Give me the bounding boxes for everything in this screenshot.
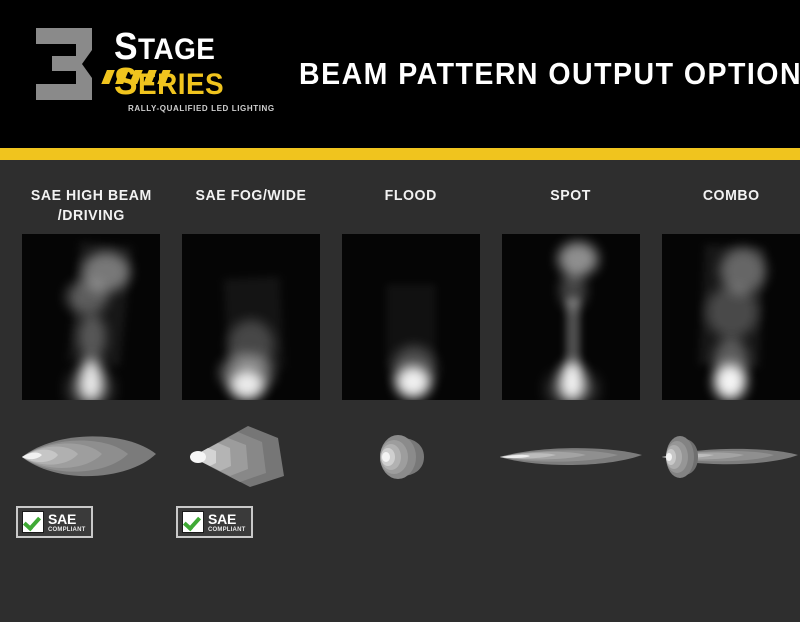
badge-slot-fog-wide: SAE COMPLIANT [176, 506, 326, 552]
sae-badge-subtitle: COMPLIANT [48, 527, 85, 533]
beam-diagram-spot [496, 424, 646, 490]
logo-stage-rest: TAGE [138, 33, 215, 66]
stage-series-logo: STAGE SERIES RALLY-QUALIFIED LED LIGHTIN… [26, 14, 276, 134]
beam-photo-fog-wide [182, 234, 320, 400]
beam-photo-combo [662, 234, 800, 400]
logo-series-rest: ERIES [138, 68, 224, 101]
beam-diagram-combo [656, 424, 800, 490]
yellow-divider [0, 148, 800, 160]
column-label-fog-wide: SAE FOG/WIDE [196, 160, 307, 234]
logo-tagline: RALLY-QUALIFIED LED LIGHTING [128, 104, 274, 113]
sae-badge-text: SAE COMPLIANT [48, 512, 85, 533]
beam-diagram-fog-wide [176, 424, 326, 490]
column-spot: SPOT [496, 160, 646, 552]
column-label-flood: FLOOD [385, 160, 437, 234]
sae-compliant-badge: SAE COMPLIANT [16, 506, 93, 538]
page-title: BEAM PATTERN OUTPUT OPTIONS [299, 56, 800, 92]
beam-photo-spot [502, 234, 640, 400]
sae-badge-text: SAE COMPLIANT [208, 512, 245, 533]
beam-photo-high-beam-driving [22, 234, 160, 400]
header-bar: STAGE SERIES RALLY-QUALIFIED LED LIGHTIN… [0, 0, 800, 148]
column-label-high-beam-driving: SAE HIGH BEAM /DRIVING [31, 160, 152, 234]
green-check-icon [182, 511, 204, 533]
badge-slot-high-beam-driving: SAE COMPLIANT [16, 506, 166, 552]
sae-compliant-badge: SAE COMPLIANT [176, 506, 253, 538]
logo-word-series: SERIES [114, 67, 263, 100]
beam-pattern-grid: SAE HIGH BEAM /DRIVING [0, 160, 800, 552]
sae-badge-title: SAE [208, 512, 245, 526]
column-label-spot: SPOT [551, 160, 592, 234]
logo-series-capital: S [114, 61, 138, 103]
beam-pattern-infographic: STAGE SERIES RALLY-QUALIFIED LED LIGHTIN… [0, 0, 800, 622]
logo-numeral-3-icon [30, 16, 126, 112]
column-fog-wide: SAE FOG/WIDE [176, 160, 326, 552]
column-high-beam-driving: SAE HIGH BEAM /DRIVING [16, 160, 166, 552]
column-flood: FLOOD SA [336, 160, 486, 552]
logo-wordmark: STAGE SERIES RALLY-QUALIFIED LED LIGHTIN… [114, 32, 274, 113]
column-label-combo: COMBO [703, 160, 760, 234]
column-combo: COMBO [656, 160, 800, 552]
sae-badge-title: SAE [48, 512, 85, 526]
beam-photo-flood [342, 234, 480, 400]
beam-diagram-flood [336, 424, 486, 490]
beam-diagram-high-beam-driving [16, 424, 166, 490]
green-check-icon [22, 511, 44, 533]
sae-badge-subtitle: COMPLIANT [208, 527, 245, 533]
